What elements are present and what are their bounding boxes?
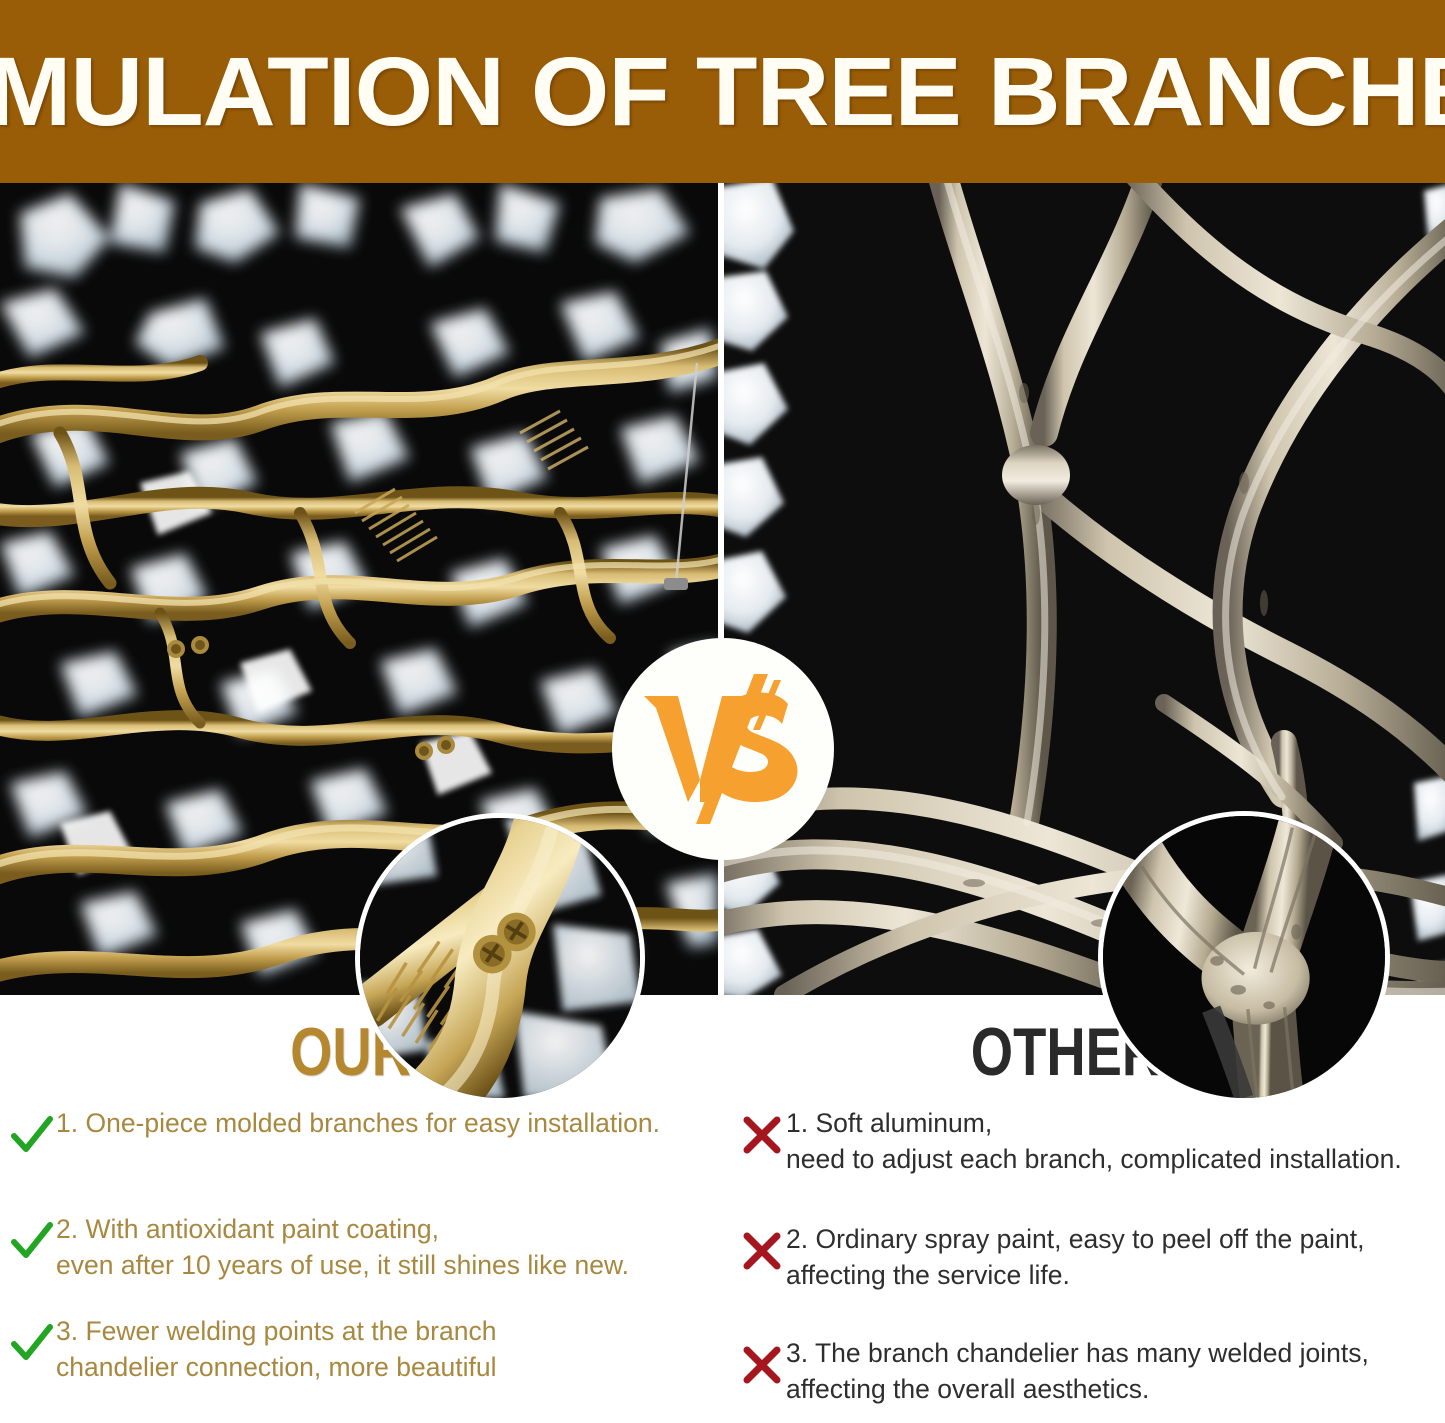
gold-joint-closeup — [360, 818, 640, 1098]
our-list-item-1: 1. One-piece molded branches for easy in… — [0, 1105, 722, 1159]
other-list-item-1: 1. Soft aluminum, need to adjust each br… — [722, 1105, 1445, 1177]
our-list-item-3: 3. Fewer welding points at the branch ch… — [0, 1313, 722, 1385]
our-list-item-2-text: 2. With antioxidant paint coating, even … — [56, 1211, 629, 1283]
other-list-item-2: 2. Ordinary spray paint, easy to peel of… — [722, 1221, 1445, 1293]
cross-icon — [738, 1341, 786, 1389]
versus-badge — [612, 638, 834, 860]
other-list-item-2-text: 2. Ordinary spray paint, easy to peel of… — [786, 1221, 1364, 1293]
other-bullet-list: 1. Soft aluminum, need to adjust each br… — [722, 1105, 1445, 1423]
cross-icon — [738, 1227, 786, 1275]
check-icon — [8, 1111, 56, 1159]
our-column: OUR 1. One-piece molded branches for eas… — [0, 995, 722, 1407]
page-header-banner: SIMULATION OF TREE BRANCHES — [0, 0, 1445, 183]
our-list-item-1-text: 1. One-piece molded branches for easy in… — [56, 1105, 660, 1141]
our-list-item-2: 2. With antioxidant paint coating, even … — [0, 1211, 722, 1283]
cross-icon — [738, 1111, 786, 1159]
comparison-photo-strip — [0, 183, 1445, 995]
our-bullet-list: 1. One-piece molded branches for easy in… — [0, 1105, 722, 1401]
our-list-item-3-text: 3. Fewer welding points at the branch ch… — [56, 1313, 496, 1385]
zoom-callout-our — [355, 813, 645, 1103]
other-list-item-3-text: 3. The branch chandelier has many welded… — [786, 1335, 1369, 1407]
other-list-item-3: 3. The branch chandelier has many welded… — [722, 1335, 1445, 1407]
zoom-callout-other — [1098, 811, 1390, 1103]
check-icon — [8, 1319, 56, 1367]
page-title: SIMULATION OF TREE BRANCHES — [0, 36, 1445, 148]
vs-icon — [638, 674, 808, 824]
check-icon — [8, 1217, 56, 1265]
other-list-item-1-text: 1. Soft aluminum, need to adjust each br… — [786, 1105, 1402, 1177]
silver-welded-joint-closeup — [1103, 816, 1385, 1098]
